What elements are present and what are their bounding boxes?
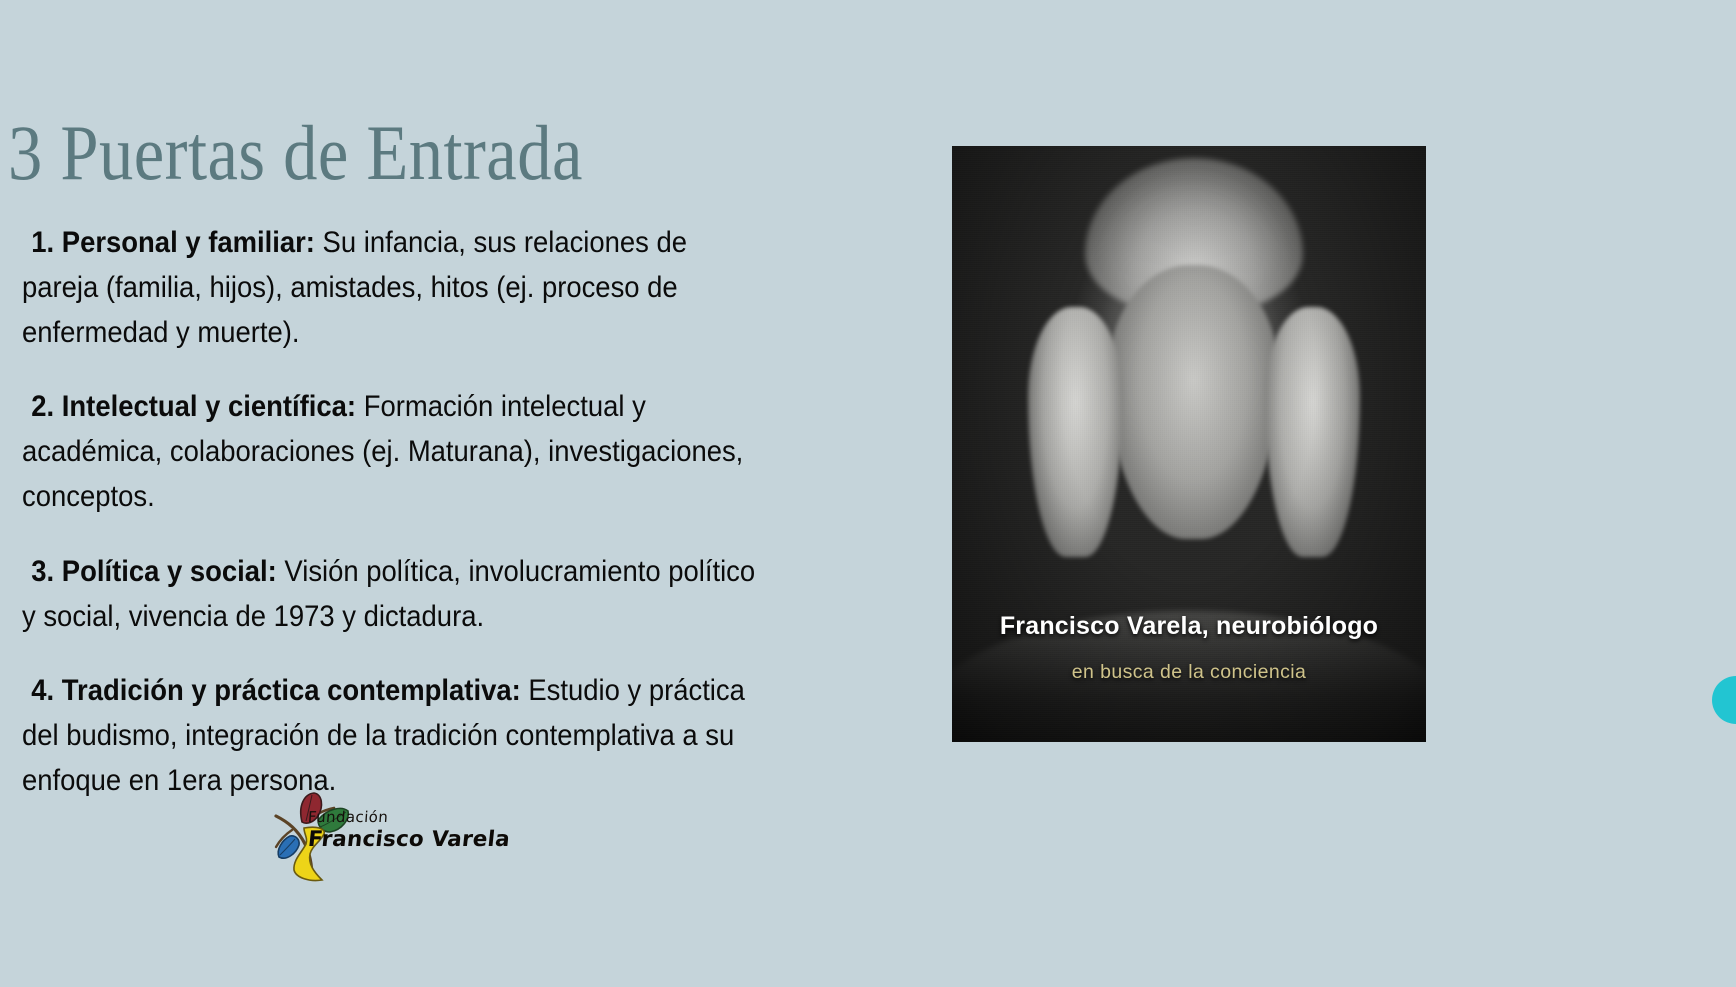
entry-lead-1: 1. Personal y familiar: <box>22 226 315 259</box>
book-cover-image: Francisco Varela, neurobiólogo en busca … <box>952 146 1426 742</box>
logo-line-fundacion: Fundación <box>307 808 478 826</box>
entry-lead-4: 4. Tradición y práctica contemplativa: <box>22 674 521 707</box>
entry-lead-3: 3. Política y social: <box>22 555 277 588</box>
accent-dot <box>1712 676 1736 724</box>
book-cover-subtitle: en busca de la conciencia <box>952 661 1426 684</box>
slide-canvas: 3 Puertas de Entrada 1. Personal y famil… <box>0 0 1736 987</box>
list-item: 4. Tradición y práctica contemplativa: E… <box>22 668 766 803</box>
page-title: 3 Puertas de Entrada <box>8 114 583 192</box>
list-item: 1. Personal y familiar: Su infancia, sus… <box>22 220 766 355</box>
logo-line-name: Francisco Varela <box>307 827 480 852</box>
logo-wordmark: Fundación Francisco Varela <box>308 808 478 852</box>
list-item: 3. Política y social: Visión política, i… <box>22 549 766 639</box>
foundation-logo: Fundación Francisco Varela <box>262 792 472 884</box>
book-cover-title: Francisco Varela, neurobiólogo <box>952 612 1426 641</box>
entry-list: 1. Personal y familiar: Su infancia, sus… <box>22 190 762 803</box>
photo-vignette <box>952 146 1426 742</box>
entry-lead-2: 2. Intelectual y científica: <box>22 390 356 423</box>
list-item: 2. Intelectual y científica: Formación i… <box>22 384 766 519</box>
